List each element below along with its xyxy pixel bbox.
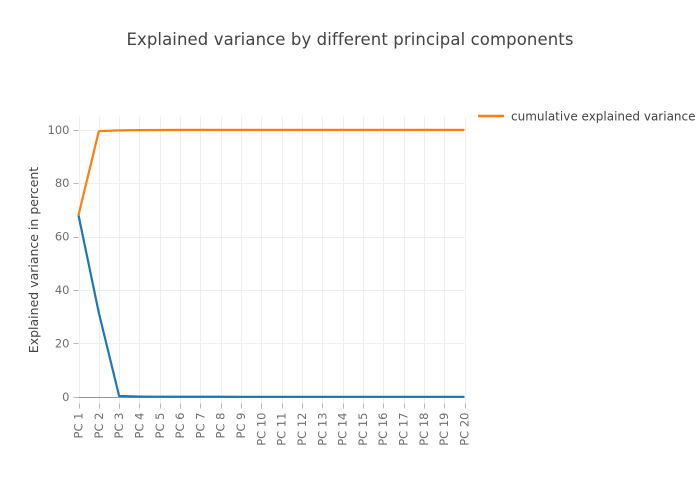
y-tick-labels: 020406080100 xyxy=(48,123,70,404)
x-tick-label: PC 8 xyxy=(214,413,228,439)
y-tick-label: 0 xyxy=(62,390,69,404)
x-tick-label: PC 5 xyxy=(153,413,167,439)
x-tick-label: PC 15 xyxy=(356,413,370,446)
x-tick-label: PC 7 xyxy=(193,413,207,439)
x-tick-labels: PC 1PC 2PC 3PC 4PC 5PC 6PC 7PC 8PC 9PC 1… xyxy=(72,413,472,446)
x-tick-label: PC 14 xyxy=(336,413,350,446)
y-tick-label: 80 xyxy=(55,176,70,190)
x-tick-label: PC 4 xyxy=(132,413,146,439)
x-tick-label: PC 12 xyxy=(295,413,309,446)
y-tick-label: 20 xyxy=(55,336,70,350)
x-tick-label: PC 19 xyxy=(437,413,451,446)
y-tick-label: 60 xyxy=(55,230,70,244)
x-tick-label: PC 2 xyxy=(92,413,106,439)
y-axis-title: Explained variance in percent xyxy=(26,167,41,353)
x-tickmarks xyxy=(80,404,466,409)
data-series-group xyxy=(79,130,465,397)
x-tick-label: PC 9 xyxy=(234,413,248,439)
chart-figure: Explained variance by different principa… xyxy=(0,0,700,500)
x-tick-label: PC 16 xyxy=(376,413,390,446)
y-axis-title-text: Explained variance in percent xyxy=(26,167,41,353)
x-gridlines xyxy=(80,117,466,404)
x-tick-label: PC 10 xyxy=(254,413,268,446)
y-tick-label: 40 xyxy=(55,283,70,297)
x-tick-label: PC 11 xyxy=(275,413,289,446)
x-tick-label: PC 20 xyxy=(458,413,472,446)
legend-entry-label[interactable]: cumulative explained variance xyxy=(511,110,696,124)
x-tick-label: PC 1 xyxy=(72,413,86,439)
x-tick-label: PC 17 xyxy=(397,413,411,446)
x-tick-label: PC 13 xyxy=(315,413,329,446)
x-tick-label: PC 18 xyxy=(417,413,431,446)
plot-area: 020406080100 PC 1PC 2PC 3PC 4PC 5PC 6PC … xyxy=(0,0,700,500)
x-tick-label: PC 6 xyxy=(173,413,187,439)
y-tickmarks xyxy=(74,131,79,398)
x-tick-label: PC 3 xyxy=(112,413,126,439)
chart-legend[interactable]: cumulative explained variance xyxy=(478,110,696,124)
y-gridlines xyxy=(79,131,465,398)
y-tick-label: 100 xyxy=(48,123,70,137)
series-line-1 xyxy=(79,130,465,215)
series-line-0 xyxy=(79,215,465,397)
